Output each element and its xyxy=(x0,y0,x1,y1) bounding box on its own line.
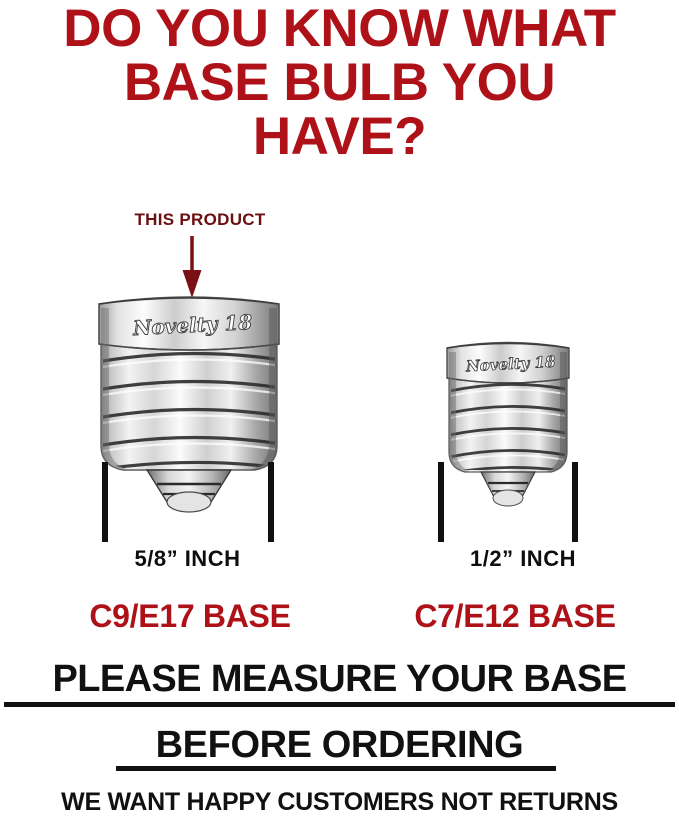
measure-tick-right-end xyxy=(572,462,578,542)
measure-tick-left-end xyxy=(268,462,274,542)
footer-line-3: WE WANT HAPPY CUSTOMERS NOT RETURNS xyxy=(0,790,679,815)
footer-line-1: PLEASE MEASURE YOUR BASE xyxy=(0,660,679,698)
footer-line-2: BEFORE ORDERING xyxy=(0,726,679,764)
headline-line-1: DO YOU KNOW WHAT xyxy=(0,2,679,55)
infographic-page: DO YOU KNOW WHAT BASE BULB YOU HAVE? THI… xyxy=(0,0,679,823)
base-name-left: C9/E17 BASE xyxy=(45,598,335,635)
socket-left-c9-e17: Novelty 18 xyxy=(93,288,285,521)
measure-tick-right-start xyxy=(438,462,444,542)
base-name-right: C7/E12 BASE xyxy=(370,598,660,635)
headline-line-3: HAVE? xyxy=(0,110,679,163)
footer-underline-1 xyxy=(4,702,675,707)
measurement-label-left: 5/8” INCH xyxy=(95,546,280,572)
measurement-label-right: 1/2” INCH xyxy=(428,546,618,572)
headline-line-2: BASE BULB YOU xyxy=(0,56,679,109)
footer-underline-2 xyxy=(116,766,556,771)
this-product-label: THIS PRODUCT xyxy=(110,210,290,230)
measure-tick-left-start xyxy=(102,462,108,542)
socket-right-c7-e12: Novelty 18 xyxy=(443,336,573,523)
